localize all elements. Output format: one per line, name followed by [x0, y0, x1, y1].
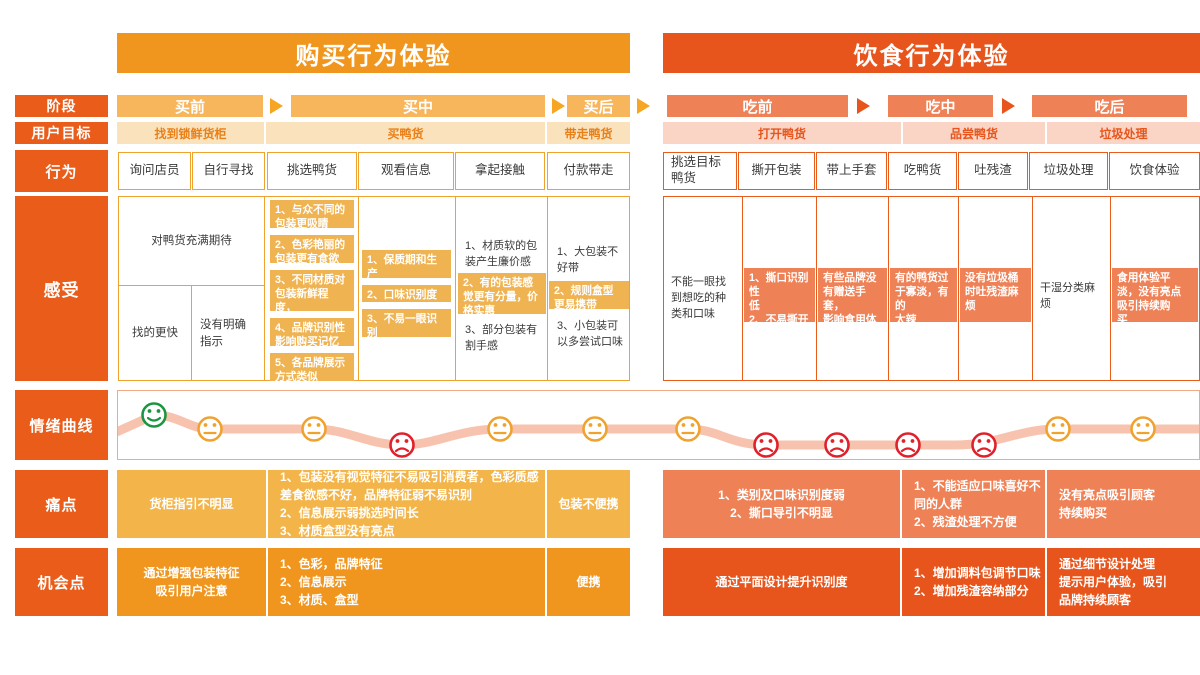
opportunity-buy-1: 1、色彩，品牌特征 2、信息展示 3、材质、盒型	[268, 548, 545, 616]
emotion-face-neutral-1	[199, 418, 222, 441]
emotion-curve-chart	[118, 391, 1199, 459]
feeling-buy-c2-chip-4: 5、各品牌展示 方式类似	[270, 353, 354, 381]
emotion-face-happy-0	[143, 404, 166, 427]
feeling-eat-item-6: 食用体验平 淡，没有亮点 吸引持续购 买	[1112, 268, 1198, 322]
goal-chip-eat-1: 品尝鸭货	[903, 122, 1045, 144]
pain-point-eat-0: 1、类别及口味识别度弱 2、撕口导引不明显	[663, 470, 900, 538]
banner-purchase-experience: 购买行为体验	[117, 33, 630, 73]
emotion-face-sad-7	[755, 434, 778, 457]
journey-map: 购买行为体验 饮食行为体验 阶段 用户目标 行为 感受 情绪曲线 痛点 机会点 …	[0, 0, 1200, 675]
emotion-face-sad-9	[897, 434, 920, 457]
behavior-cell-eat-6[interactable]: 饮食体验	[1109, 152, 1200, 190]
behavior-cell-eat-5[interactable]: 垃圾处理	[1029, 152, 1108, 190]
feeling-eat-item-5: 干湿分类麻 烦	[1035, 278, 1108, 312]
stage-chip-buy-1[interactable]: 买中	[291, 95, 545, 117]
feeling-buy-c1-top: 对鸭货充满期待	[120, 198, 263, 284]
goal-chip-buy-0: 找到锁鲜货柜	[117, 122, 264, 144]
behavior-cell-buy-5[interactable]: 付款带走	[547, 152, 630, 190]
feeling-eat-item-0: 不能一眼找 到想吃的种 类和口味	[666, 272, 740, 318]
behavior-cell-buy-1[interactable]: 自行寻找	[192, 152, 265, 190]
feeling-buy-c4-item-0: 1、材质软的包 装产生廉价感	[460, 236, 545, 264]
feeling-buy-c5-item-1: 2、规则盒型 更易携带	[549, 281, 629, 309]
opportunity-buy-2: 便携	[547, 548, 630, 616]
pain-point-eat-2: 没有亮点吸引顾客 持续购买	[1047, 470, 1200, 538]
behavior-cell-buy-4[interactable]: 拿起接触	[455, 152, 545, 190]
pain-point-buy-1: 1、包装没有视觉特征不易吸引消费者，色彩质感 差食欲感不好，品牌特征弱不易识别 …	[268, 470, 545, 538]
feeling-buy-c4-item-2: 3、部分包装有 割手感	[460, 320, 545, 348]
row-label-pain-point: 痛点	[15, 470, 108, 538]
stage-arrow-buy-2-icon	[637, 98, 650, 114]
behavior-cell-eat-3[interactable]: 吃鸭货	[888, 152, 957, 190]
feeling-eat-item-1: 1、撕口识别性 低 2、不易撕开	[744, 268, 815, 322]
feeling-buy-c4-item-1: 2、有的包装感 觉更有分量，价 格实惠	[458, 273, 546, 314]
feeling-eat-item-2: 有些品牌没 有赠送手套， 影响食用体 验	[818, 268, 887, 322]
pain-point-buy-2: 包装不便携	[547, 470, 630, 538]
feelings-divider-buy-3	[455, 196, 456, 381]
emotion-face-neutral-11	[1047, 418, 1070, 441]
behavior-cell-eat-2[interactable]: 带上手套	[816, 152, 887, 190]
row-label-user-goal: 用户目标	[15, 122, 108, 144]
goal-chip-buy-2: 带走鸭货	[547, 122, 630, 144]
behavior-cell-buy-2[interactable]: 挑选鸭货	[267, 152, 357, 190]
opportunity-eat-0: 通过平面设计提升识别度	[663, 548, 900, 616]
row-label-feeling: 感受	[15, 196, 108, 381]
feeling-buy-c5-item-2: 3、小包装可 以多尝试口味	[552, 316, 628, 344]
stage-chip-eat-2[interactable]: 吃后	[1032, 95, 1187, 117]
emotion-face-neutral-6	[677, 418, 700, 441]
stage-arrow-eat-0-icon	[857, 98, 870, 114]
emotion-face-neutral-2	[303, 418, 326, 441]
feeling-eat-item-4: 没有垃圾桶 时吐残渣麻烦	[960, 268, 1031, 322]
row-label-behavior: 行为	[15, 150, 108, 192]
opportunity-buy-0: 通过增强包装特征 吸引用户注意	[117, 548, 266, 616]
stage-arrow-buy-1-icon	[552, 98, 565, 114]
feeling-buy-c5-item-0: 1、大包装不 好带	[552, 242, 628, 270]
behavior-cell-eat-1[interactable]: 撕开包装	[738, 152, 815, 190]
pain-point-buy-0: 货柜指引不明显	[117, 470, 266, 538]
stage-arrow-buy-0-icon	[270, 98, 283, 114]
opportunity-eat-1: 1、增加调料包调节口味 2、增加残渣容纳部分	[902, 548, 1045, 616]
emotion-face-neutral-4	[489, 418, 512, 441]
behavior-cell-buy-3[interactable]: 观看信息	[358, 152, 454, 190]
goal-chip-eat-2: 垃圾处理	[1047, 122, 1200, 144]
feeling-buy-c3-chip-1: 2、口味识别度弱	[362, 285, 451, 302]
goal-chip-eat-0: 打开鸭货	[663, 122, 901, 144]
feelings-divider-buy-2	[358, 196, 359, 381]
row-label-stage: 阶段	[15, 95, 108, 117]
emotion-face-sad-3	[391, 434, 414, 457]
behavior-cell-eat-4[interactable]: 吐残渣	[958, 152, 1028, 190]
stage-chip-eat-1[interactable]: 吃中	[888, 95, 993, 117]
feeling-buy-c2-chip-2: 3、不同材质对 包装新鲜程度， 质感有影响	[270, 270, 354, 311]
opportunity-eat-2: 通过细节设计处理 提示用户体验，吸引 品牌持续顾客	[1047, 548, 1200, 616]
row-label-opportunity: 机会点	[15, 548, 108, 616]
feeling-buy-c3-chip-0: 1、保质期和生产 日期不显眼	[362, 250, 451, 278]
feeling-buy-c1-bottom-left: 找的更快	[120, 288, 190, 379]
stage-chip-eat-0[interactable]: 吃前	[667, 95, 848, 117]
goal-chip-buy-1: 买鸭货	[266, 122, 545, 144]
feeling-buy-c1-bottom-right: 没有明确 指示	[200, 288, 262, 379]
emotion-curve-panel	[117, 390, 1200, 460]
feeling-buy-c3-chip-2: 3、不易一眼识别 种类	[362, 309, 451, 337]
emotion-face-sad-10	[973, 434, 996, 457]
emotion-face-sad-8	[826, 434, 849, 457]
emotion-face-neutral-12	[1132, 418, 1155, 441]
feeling-buy-c2-chip-3: 4、品牌识别性 影响购买记忆	[270, 318, 354, 346]
feeling-eat-item-3: 有的鸭货过 于寡淡，有的 太辣	[890, 268, 957, 322]
feelings-divider-buy-5	[191, 285, 192, 381]
feelings-divider-eat-5	[1032, 196, 1033, 381]
banner-eating-experience: 饮食行为体验	[663, 33, 1200, 73]
stage-chip-buy-2[interactable]: 买后	[567, 95, 630, 117]
feeling-buy-c2-chip-1: 2、色彩艳丽的 包装更有食欲	[270, 235, 354, 263]
stage-arrow-eat-1-icon	[1002, 98, 1015, 114]
pain-point-eat-1: 1、不能适应口味喜好不 同的人群 2、残渣处理不方便	[902, 470, 1045, 538]
stage-chip-buy-0[interactable]: 买前	[117, 95, 263, 117]
behavior-cell-buy-0[interactable]: 询问店员	[118, 152, 191, 190]
emotion-curve-line	[118, 415, 1199, 445]
row-label-emotion-curve: 情绪曲线	[15, 390, 108, 460]
behavior-cell-eat-0[interactable]: 挑选目标 鸭货	[663, 152, 737, 190]
emotion-face-neutral-5	[584, 418, 607, 441]
feeling-buy-c2-chip-0: 1、与众不同的 包装更吸睛	[270, 200, 354, 228]
feelings-divider-buy-1	[264, 196, 265, 381]
